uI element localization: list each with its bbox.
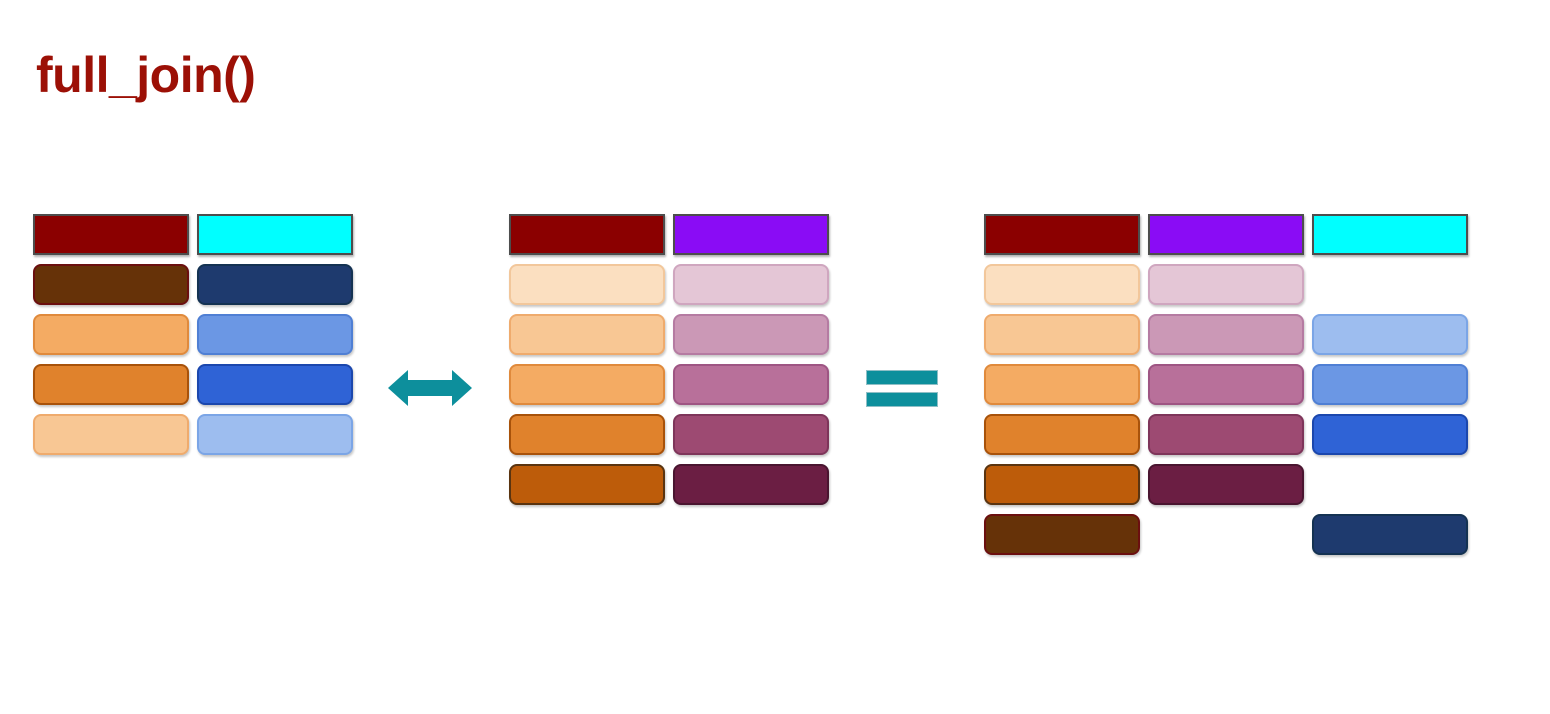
double-headed-arrow-icon [388,366,472,410]
table-row [33,264,353,305]
table-row [984,314,1468,355]
table-row [984,414,1468,455]
data-cell-key-column [33,364,189,405]
data-cell-key-column [33,314,189,355]
header-cell-key-column [509,214,665,255]
data-cell-key-column [984,414,1140,455]
table-row [984,264,1468,305]
empty-cell-x-value-column [1312,264,1468,305]
data-cell-key-column [509,464,665,505]
table-header-row [33,214,353,255]
table-row [509,414,829,455]
equals-bar-bottom [866,392,938,407]
data-cell-x-value-column [1312,314,1468,355]
data-cell-key-column [33,264,189,305]
data-cell-y-value-column [1148,364,1304,405]
data-cell-key-column [509,314,665,355]
data-cell-key-column [509,364,665,405]
table-row [33,414,353,455]
table-row [509,314,829,355]
equals-bar-top [866,370,938,385]
data-cell-key-column [984,514,1140,555]
data-cell-key-column [509,264,665,305]
header-cell-key-column [984,214,1140,255]
data-cell-x-value-column [1312,414,1468,455]
table-row [509,464,829,505]
data-cell-y-value-column [1148,264,1304,305]
data-cell-y-value-column [1148,314,1304,355]
header-cell-key-column [33,214,189,255]
data-cell-x-value-column [1312,514,1468,555]
data-cell-x-value-column [197,314,353,355]
result-table [984,214,1468,555]
table-header-row [984,214,1468,255]
empty-cell-y-value-column [1148,514,1304,555]
empty-cell-x-value-column [1312,464,1468,505]
header-cell-y-value-column [1148,214,1304,255]
data-cell-y-value-column [1148,414,1304,455]
data-cell-y-value-column [673,464,829,505]
data-cell-x-value-column [197,264,353,305]
table-row [509,264,829,305]
data-cell-y-value-column [673,414,829,455]
arrow-shape [388,370,472,406]
data-cell-y-value-column [1148,464,1304,505]
data-cell-key-column [984,264,1140,305]
slide-canvas: full_join() [0,0,1550,714]
table-row [984,514,1468,555]
table-row [509,364,829,405]
data-cell-y-value-column [673,264,829,305]
data-cell-key-column [984,364,1140,405]
table-row [984,464,1468,505]
data-cell-key-column [984,314,1140,355]
data-cell-key-column [984,464,1140,505]
data-cell-x-value-column [197,364,353,405]
header-cell-x-value-column [1312,214,1468,255]
table-row [33,364,353,405]
data-cell-x-value-column [197,414,353,455]
data-cell-y-value-column [673,314,829,355]
header-cell-x-value-column [197,214,353,255]
equals-sign-icon [866,370,938,407]
header-cell-y-value-column [673,214,829,255]
table-row [984,364,1468,405]
table-header-row [509,214,829,255]
data-cell-y-value-column [673,364,829,405]
table-row [33,314,353,355]
page-title: full_join() [36,50,255,100]
data-cell-key-column [33,414,189,455]
data-cell-x-value-column [1312,364,1468,405]
left-table [33,214,353,455]
data-cell-key-column [509,414,665,455]
middle-table [509,214,829,505]
arrow-svg [388,366,472,410]
